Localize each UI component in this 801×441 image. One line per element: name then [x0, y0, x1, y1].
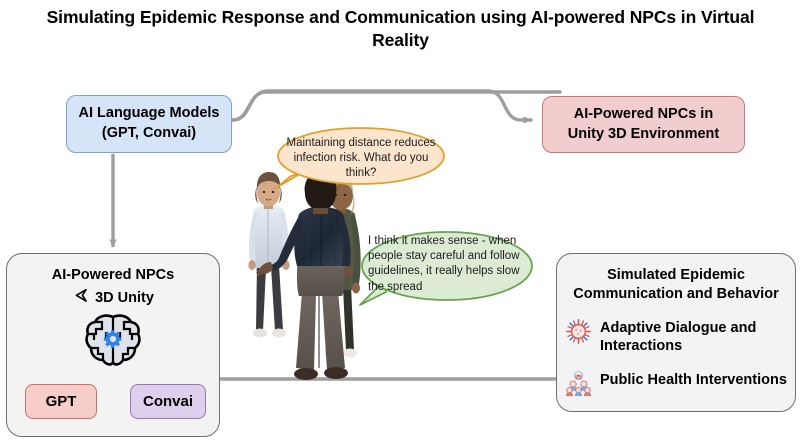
node-ai-powered-npcs-unity-line2: Unity 3D Environment — [568, 125, 719, 145]
node-ai-language-models[interactable]: AI Language Models (GPT, Convai) — [66, 95, 232, 153]
node-ai-powered-npcs-unity-line1: AI-Powered NPCs in — [574, 105, 713, 125]
feature-public-health-label: Public Health Interventions — [600, 369, 787, 389]
panel-simulated-epidemic: Simulated Epidemic Communication and Beh… — [556, 253, 796, 412]
ai-brain-gear-icon — [82, 312, 144, 377]
pill-gpt[interactable]: GPT — [25, 384, 97, 419]
node-ai-language-models-line1: AI Language Models — [79, 104, 220, 124]
pill-gpt-label: GPT — [46, 393, 77, 410]
speech-bubble-orange-text: Maintaining distance reduces infection r… — [286, 136, 436, 182]
panel-ai-powered-npcs: AI-Powered NPCs 3D Unity — [6, 253, 220, 437]
left-panel-title: AI-Powered NPCs — [7, 267, 219, 283]
unity-logo-icon — [72, 287, 89, 309]
node-ai-powered-npcs-unity[interactable]: AI-Powered NPCs in Unity 3D Environment — [542, 96, 745, 153]
right-panel-title: Simulated Epidemic Communication and Beh… — [557, 266, 795, 305]
virus-icon — [565, 318, 592, 350]
pill-convai-label: Convai — [143, 393, 193, 410]
unity-label: 3D Unity — [95, 290, 154, 306]
people-group-icon — [565, 370, 592, 402]
diagram-canvas: Simulating Epidemic Response and Communi… — [0, 0, 801, 441]
feature-adaptive-dialogue[interactable]: Adaptive Dialogue and Interactions — [565, 317, 789, 355]
feature-public-health[interactable]: Public Health Interventions — [565, 369, 789, 402]
feature-adaptive-dialogue-label: Adaptive Dialogue and Interactions — [600, 317, 789, 355]
pill-convai[interactable]: Convai — [130, 384, 206, 419]
right-panel-title-line2: Communication and Behavior — [557, 285, 795, 304]
speech-bubble-green-text: I think it makes sense - when people sta… — [368, 234, 528, 295]
node-ai-language-models-line2: (GPT, Convai) — [102, 124, 196, 144]
right-panel-title-line1: Simulated Epidemic — [557, 266, 795, 285]
unity-row: 3D Unity — [7, 287, 219, 309]
